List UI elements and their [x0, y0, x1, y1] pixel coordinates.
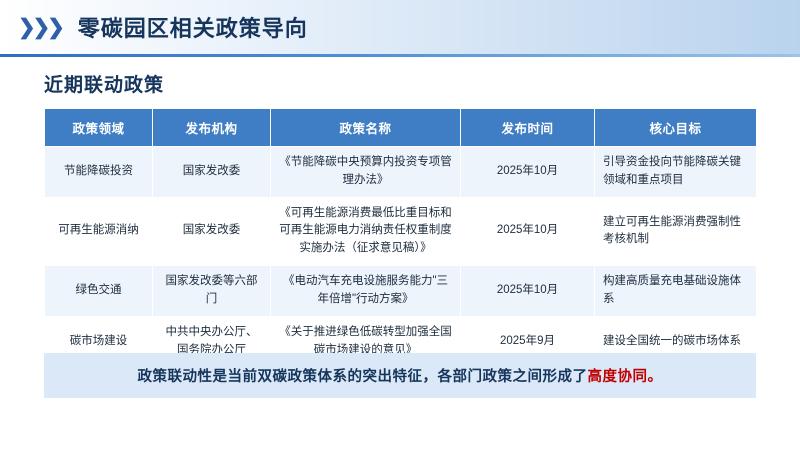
- column-header-domain: 政策领域: [45, 109, 153, 147]
- slide-header: ❯❯❯ 零碳园区相关政策导向: [0, 0, 800, 54]
- cell-date: 2025年10月: [461, 147, 595, 198]
- table-row: 可再生能源消纳 国家发改委 《可再生能源消费最低比重目标和可再生能源电力消纳责任…: [45, 197, 757, 265]
- summary-text-highlight: 高度协同: [588, 369, 648, 385]
- footer-strip: [0, 442, 800, 450]
- column-header-date: 发布时间: [461, 109, 595, 147]
- double-chevron-right-icon: ❯❯❯: [18, 15, 62, 40]
- table-row: 绿色交通 国家发改委等六部门 《电动汽车充电设施服务能力"三年倍增"行动方案》 …: [45, 266, 757, 317]
- table-row: 节能降碳投资 国家发改委 《节能降碳中央预算内投资专项管理办法》 2025年10…: [45, 147, 757, 198]
- cell-agency: 国家发改委: [153, 147, 271, 198]
- header-divider: [0, 54, 800, 57]
- summary-text-after: 。: [648, 369, 663, 385]
- cell-date: 2025年10月: [461, 266, 595, 317]
- policy-table: 政策领域 发布机构 政策名称 发布时间 核心目标 节能降碳投资 国家发改委 《节…: [44, 108, 757, 367]
- slide: ❯❯❯ 零碳园区相关政策导向 近期联动政策 政策领域 发布机构 政策名称 发布时…: [0, 0, 800, 450]
- cell-goal: 建立可再生能源消费强制性考核机制: [595, 197, 757, 265]
- cell-domain: 节能降碳投资: [45, 147, 153, 198]
- section-title: 近期联动政策: [44, 70, 164, 97]
- cell-agency: 国家发改委: [153, 197, 271, 265]
- cell-agency: 国家发改委等六部门: [153, 266, 271, 317]
- cell-domain: 绿色交通: [45, 266, 153, 317]
- cell-date: 2025年10月: [461, 197, 595, 265]
- table-header-row: 政策领域 发布机构 政策名称 发布时间 核心目标: [45, 109, 757, 147]
- summary-callout: 政策联动性是当前双碳政策体系的突出特征，各部门政策之间形成了高度协同。: [44, 353, 756, 398]
- page-title: 零碳园区相关政策导向: [78, 11, 308, 43]
- cell-goal: 引导资金投向节能降碳关键领域和重点项目: [595, 147, 757, 198]
- cell-policy: 《可再生能源消费最低比重目标和可再生能源电力消纳责任权重制度实施办法（征求意见稿…: [271, 197, 461, 265]
- column-header-goal: 核心目标: [595, 109, 757, 147]
- summary-text: 政策联动性是当前双碳政策体系的突出特征，各部门政策之间形成了高度协同。: [138, 365, 663, 386]
- column-header-policy: 政策名称: [271, 109, 461, 147]
- cell-policy: 《电动汽车充电设施服务能力"三年倍增"行动方案》: [271, 266, 461, 317]
- cell-domain: 可再生能源消纳: [45, 197, 153, 265]
- summary-text-before: 政策联动性是当前双碳政策体系的突出特征，各部门政策之间形成了: [138, 369, 588, 385]
- column-header-agency: 发布机构: [153, 109, 271, 147]
- cell-policy: 《节能降碳中央预算内投资专项管理办法》: [271, 147, 461, 198]
- cell-goal: 构建高质量充电基础设施体系: [595, 266, 757, 317]
